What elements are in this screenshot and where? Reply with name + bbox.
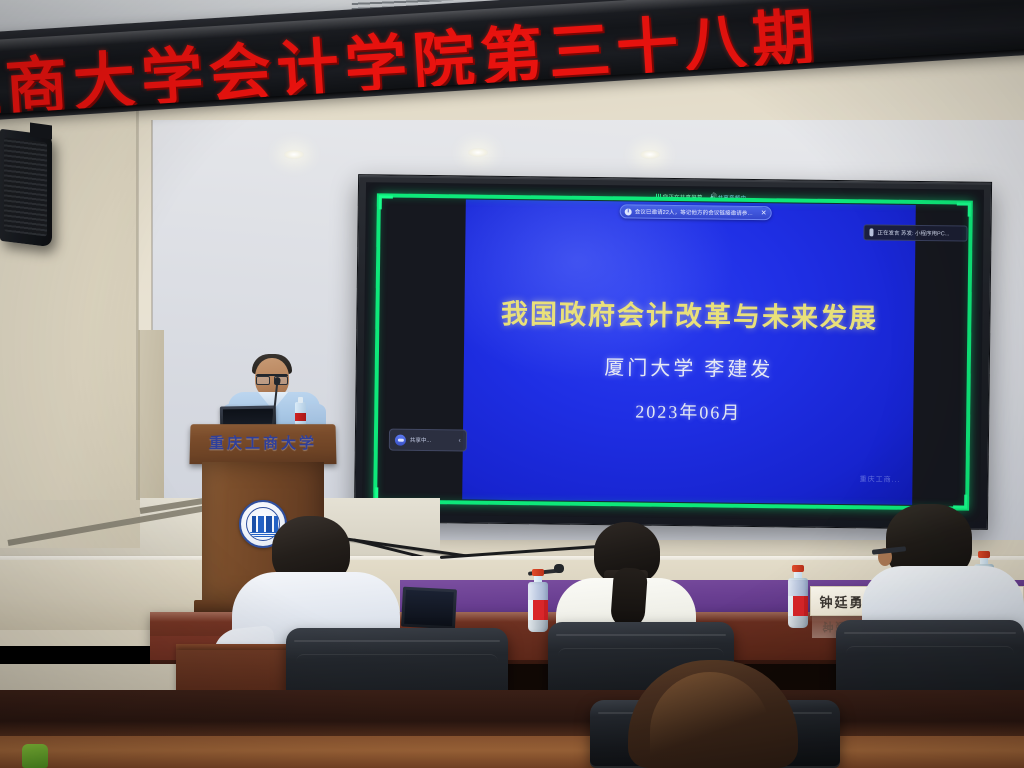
meeting-share-toolbar[interactable]: 您正在共享屏幕 🔊 共享音频中 [616,190,786,203]
share-corner-marker [379,195,393,209]
speaker-icon: 🔊 [710,194,716,200]
water-bottle [788,566,808,628]
eyeglasses-icon [256,374,288,381]
slide-title: 我国政府会计改革与未来发展 [464,291,914,335]
sharing-audio-label: 共享音频中 [718,193,747,201]
presentation-slide: 我国政府会计改革与未来发展 厦门大学 李建发 2023年06月 重庆工商... [462,199,916,504]
floating-share-control[interactable]: 共享中... ‹ [389,429,467,452]
water-bottle [528,570,548,632]
signal-bars-icon [656,193,661,199]
slide-watermark: 重庆工商... [860,474,901,484]
lecture-hall-photo: 工商大学会计学院第三十八期 我国政府会计改革与未来发展 厦门大学 李建发 202… [0,0,1024,768]
chevron-left-icon[interactable]: ‹ [459,437,461,444]
lectern-top: 重庆工商大学 [189,424,336,464]
speaker-grille [4,137,47,236]
foreground-table-edge [0,736,1024,768]
info-icon: i [625,208,632,215]
placard-name: 钟廷勇 [819,592,864,611]
speaker-bracket [30,122,52,139]
close-icon[interactable]: ✕ [761,209,767,217]
invite-notice-text: 会议已邀请22人，等记他方的会议链接邀请参会... [635,208,758,218]
audience-ponytail [610,567,648,629]
emblem-building-bars [252,516,278,532]
water-bottle [295,402,306,426]
bottle-cap [792,565,804,572]
display-screen: 我国政府会计改革与未来发展 厦门大学 李建发 2023年06月 重庆工商... … [362,182,984,522]
floating-control-label: 共享中... [410,436,455,445]
sharing-audio-status: 🔊 共享音频中 [710,193,747,201]
university-name: 重庆工商大学 [190,432,336,453]
loudspeaker-icon [0,129,52,247]
ceiling-downlight [468,148,488,157]
wall-niche [138,330,164,500]
audience-laptop [401,587,457,630]
meeting-invite-notice[interactable]: i 会议已邀请22人，等记他方的会议链接邀请参会... ✕ [620,204,772,220]
microphone-icon [869,228,873,236]
led-display-wall: 我国政府会计改革与未来发展 厦门大学 李建发 2023年06月 重庆工商... … [354,174,992,530]
share-corner-marker [953,494,967,508]
bottle-label [528,600,548,620]
ceiling-downlight [284,150,304,159]
bottle-label [788,596,808,616]
sharing-screen-label: 您正在共享屏幕 [663,192,703,200]
video-camera-icon [395,434,406,445]
slide-subtitle: 厦门大学 李建发 [464,349,914,383]
share-corner-marker [957,202,971,216]
bottle-cap [532,569,544,576]
slide-date: 2023年06月 [463,395,913,426]
ceiling-downlight [640,150,660,159]
sharing-screen-status: 您正在共享屏幕 [656,192,703,201]
green-bottle [22,744,48,768]
bottle-cap [978,551,990,558]
active-speaker-indicator: 正在发言 苏发: 小程序用PC... [863,224,967,241]
active-speaker-text: 正在发言 苏发: 小程序用PC... [877,228,949,237]
